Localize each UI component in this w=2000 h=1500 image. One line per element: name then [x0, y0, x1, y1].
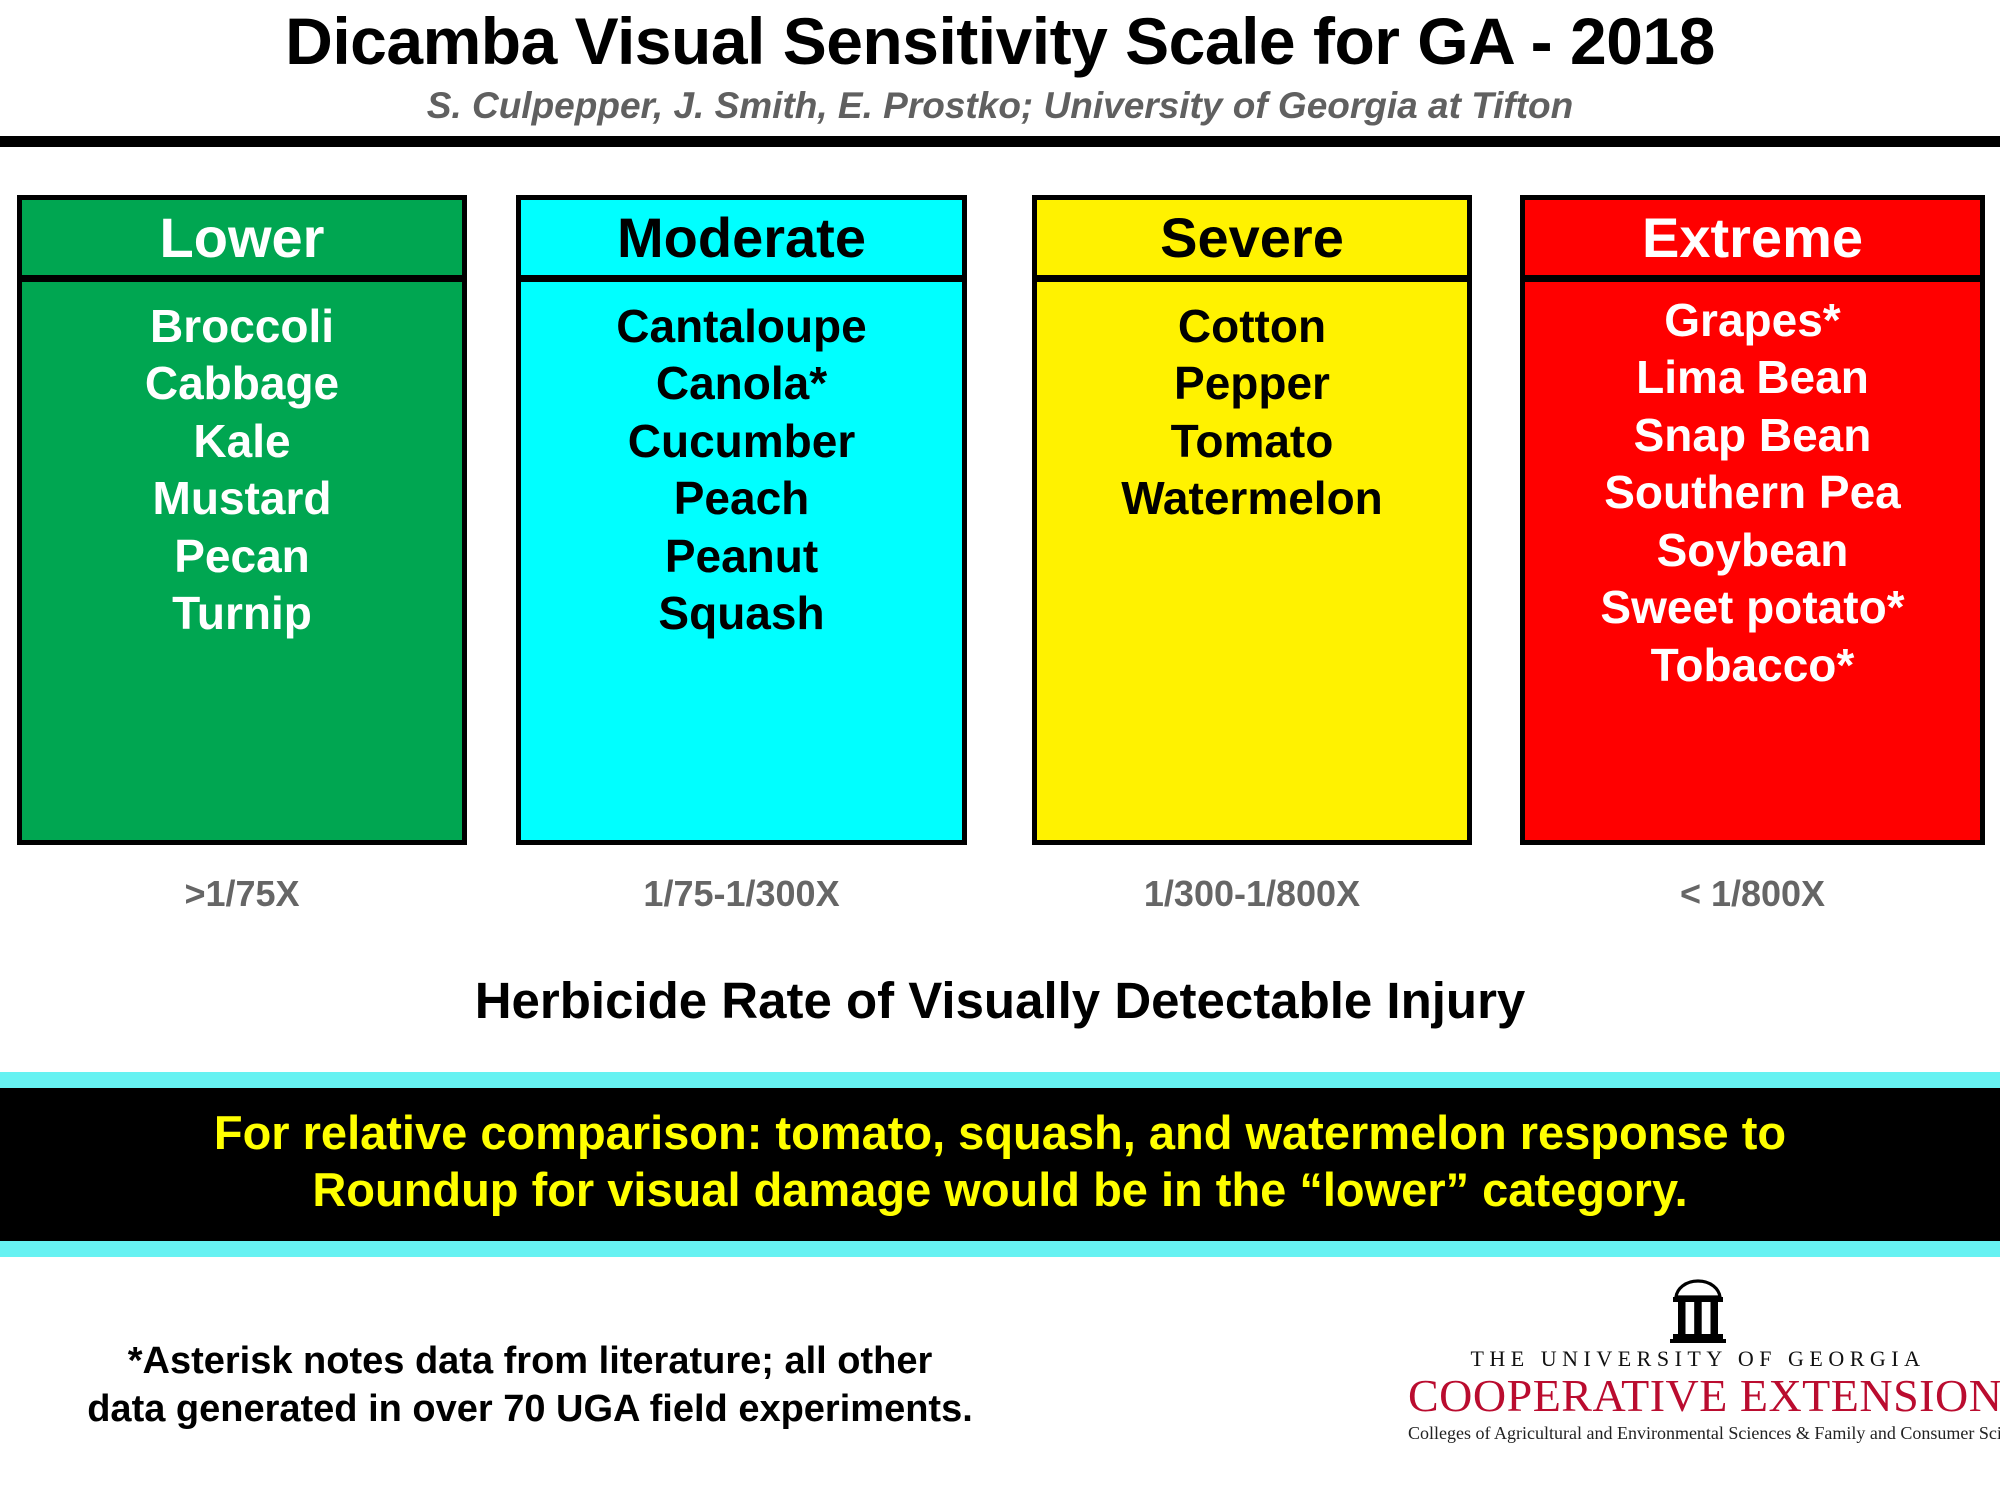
footnote-line-2: data generated in over 70 UGA field expe…	[40, 1385, 1020, 1434]
column-items-extreme: Grapes* Lima Bean Snap Bean Southern Pea…	[1525, 282, 1980, 841]
list-item: Cucumber	[521, 413, 962, 471]
list-item: Grapes*	[1525, 292, 1980, 350]
list-item: Tobacco*	[1525, 637, 1980, 695]
footnote: *Asterisk notes data from literature; al…	[40, 1337, 1020, 1434]
list-item: Soybean	[1525, 522, 1980, 580]
column-heading-severe: Severe	[1037, 200, 1467, 281]
column-heading-moderate: Moderate	[521, 200, 962, 281]
banner-bottom-edge	[0, 1241, 2000, 1257]
list-item: Lima Bean	[1525, 349, 1980, 407]
column-severe: Severe Cotton Pepper Tomato Watermelon	[1032, 195, 1472, 845]
author-subtitle: S. Culpepper, J. Smith, E. Prostko; Univ…	[0, 87, 2000, 126]
column-lower: Lower Broccoli Cabbage Kale Mustard Peca…	[17, 195, 467, 845]
list-item: Cotton	[1037, 298, 1467, 356]
list-item: Southern Pea	[1525, 464, 1980, 522]
logo-colleges-line: Colleges of Agricultural and Environment…	[1408, 1424, 1988, 1444]
list-item: Peanut	[521, 528, 962, 586]
list-item: Turnip	[22, 585, 462, 643]
list-item: Mustard	[22, 470, 462, 528]
rate-label-severe: 1/300-1/800X	[1032, 873, 1472, 915]
banner-top-edge	[0, 1072, 2000, 1088]
list-item: Cabbage	[22, 355, 462, 413]
banner-line-2: Roundup for visual damage would be in th…	[0, 1161, 2000, 1218]
logo-university-line: THE UNIVERSITY OF GEORGIA	[1408, 1347, 1988, 1371]
column-heading-extreme: Extreme	[1525, 200, 1980, 281]
rate-label-moderate: 1/75-1/300X	[516, 873, 967, 915]
column-moderate: Moderate Cantaloupe Canola* Cucumber Pea…	[516, 195, 967, 845]
poster-footer: *Asterisk notes data from literature; al…	[0, 1265, 2000, 1495]
page-title: Dicamba Visual Sensitivity Scale for GA …	[0, 8, 2000, 75]
banner-line-1: For relative comparison: tomato, squash,…	[0, 1104, 2000, 1161]
list-item: Snap Bean	[1525, 407, 1980, 465]
column-items-lower: Broccoli Cabbage Kale Mustard Pecan Turn…	[22, 282, 462, 841]
axis-caption: Herbicide Rate of Visually Detectable In…	[0, 971, 2000, 1030]
rate-label-lower: >1/75X	[17, 873, 467, 915]
banner-body: For relative comparison: tomato, squash,…	[0, 1088, 2000, 1241]
sensitivity-columns: Lower Broccoli Cabbage Kale Mustard Peca…	[0, 195, 2000, 855]
list-item: Kale	[22, 413, 462, 471]
logo-cooperative-extension-line: COOPERATIVE EXTENSION	[1408, 1372, 1988, 1420]
column-heading-lower: Lower	[22, 200, 462, 281]
column-items-moderate: Cantaloupe Canola* Cucumber Peach Peanut…	[521, 282, 962, 841]
list-item: Peach	[521, 470, 962, 528]
header-divider	[0, 136, 2000, 147]
list-item: Canola*	[521, 355, 962, 413]
list-item: Sweet potato*	[1525, 579, 1980, 637]
poster-header: Dicamba Visual Sensitivity Scale for GA …	[0, 0, 2000, 147]
column-items-severe: Cotton Pepper Tomato Watermelon	[1037, 282, 1467, 841]
list-item: Tomato	[1037, 413, 1467, 471]
list-item: Watermelon	[1037, 470, 1467, 528]
comparison-banner: For relative comparison: tomato, squash,…	[0, 1072, 2000, 1257]
list-item: Broccoli	[22, 298, 462, 356]
uga-arch-icon	[1668, 1279, 1728, 1345]
rate-labels-row: >1/75X 1/75-1/300X 1/300-1/800X < 1/800X	[0, 873, 2000, 943]
list-item: Pepper	[1037, 355, 1467, 413]
footnote-line-1: *Asterisk notes data from literature; al…	[40, 1337, 1020, 1386]
list-item: Squash	[521, 585, 962, 643]
column-extreme: Extreme Grapes* Lima Bean Snap Bean Sout…	[1520, 195, 1985, 845]
uga-cooperative-extension-logo: THE UNIVERSITY OF GEORGIA COOPERATIVE EX…	[1408, 1279, 1988, 1444]
rate-label-extreme: < 1/800X	[1520, 873, 1985, 915]
list-item: Pecan	[22, 528, 462, 586]
list-item: Cantaloupe	[521, 298, 962, 356]
